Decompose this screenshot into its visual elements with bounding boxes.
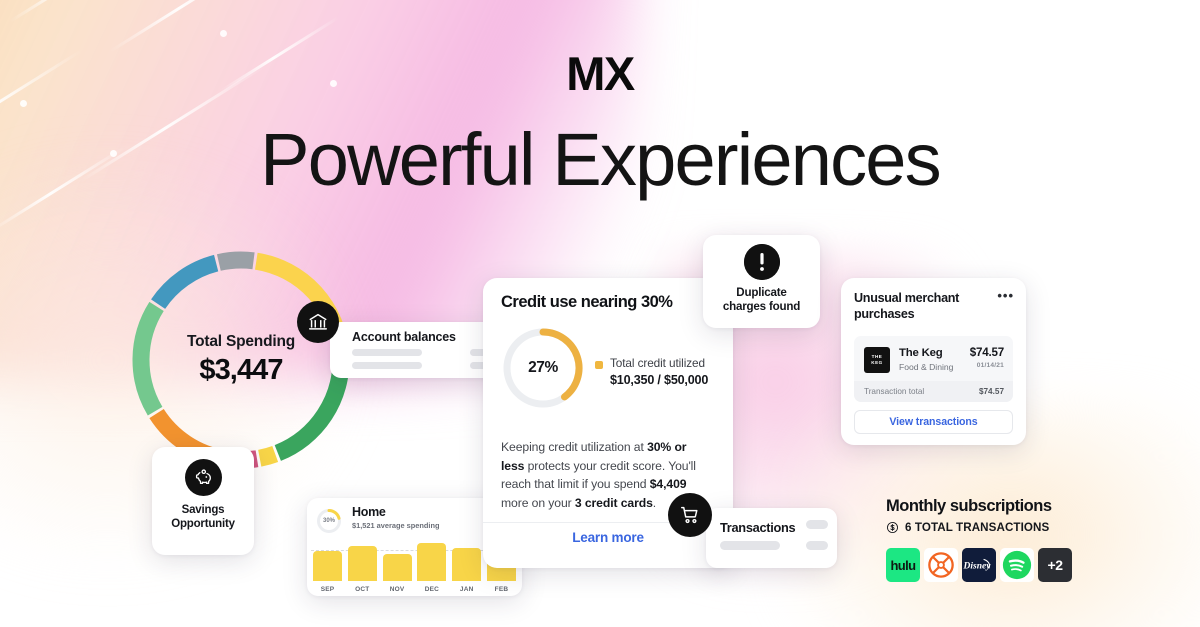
subscriptions-title: Monthly subscriptions	[886, 497, 1136, 516]
bank-icon	[297, 301, 339, 343]
transactions-card[interactable]: Transactions	[706, 508, 837, 568]
light-streak	[109, 0, 263, 53]
credit-body-text-run: .	[653, 496, 656, 510]
transaction-date: 01/14/21	[977, 362, 1004, 369]
credit-gauge-percent: 27%	[501, 326, 585, 410]
credit-body-emphasis: 3 credit cards	[575, 496, 653, 510]
home-card-title: Home	[352, 505, 386, 519]
bar-column	[313, 551, 342, 581]
credit-body-text-run: Keeping credit utilization at	[501, 440, 647, 454]
savings-opportunity-card[interactable]: Savings Opportunity	[152, 447, 254, 555]
credit-legend-label: Total credit utilized	[610, 356, 708, 370]
bar-label: NOV	[383, 586, 412, 593]
credit-use-title: Credit use nearing 30%	[501, 293, 672, 312]
bar	[348, 546, 377, 581]
transactions-title: Transactions	[720, 520, 795, 535]
disney-plus-icon[interactable]: Disney	[962, 548, 996, 582]
bar-column	[348, 546, 377, 581]
credit-legend: Total credit utilized $10,350 / $50,000	[595, 356, 708, 387]
donut-value: $3,447	[199, 354, 282, 387]
home-bar-labels: SEPOCTNOVDECJANFEB	[313, 586, 516, 593]
page-title: Powerful Experiences	[0, 117, 1200, 202]
more-subscriptions-icon[interactable]: +2	[1038, 548, 1072, 582]
duplicate-charges-card[interactable]: Duplicate charges found	[703, 235, 820, 328]
subscription-icons-row: hulu Disney	[886, 548, 1136, 582]
dollar-circle-icon	[886, 521, 899, 534]
page-stage: MX Powerful Experiences Total Spending $…	[0, 0, 1200, 627]
monthly-subscriptions-block: Monthly subscriptions 6 TOTAL TRANSACTIO…	[886, 497, 1136, 582]
merchant-category: Food & Dining	[899, 362, 953, 372]
piggy-bank-icon	[185, 459, 222, 496]
view-transactions-button[interactable]: View transactions	[854, 410, 1013, 434]
unusual-merchant-card[interactable]: Unusual merchant purchases ••• THE KEG T…	[841, 278, 1026, 445]
account-balances-title: Account balances	[352, 330, 456, 344]
bar	[313, 551, 342, 581]
bar-column	[383, 554, 412, 581]
crossfit-icon[interactable]	[924, 548, 958, 582]
credit-legend-value: $10,350 / $50,000	[610, 373, 708, 387]
subscriptions-meta: 6 TOTAL TRANSACTIONS	[886, 521, 1136, 534]
bar-label: JAN	[452, 586, 481, 593]
duplicate-charges-label: Duplicate charges found	[723, 286, 800, 315]
bar-label: SEP	[313, 586, 342, 593]
transaction-total-label: Transaction total	[864, 387, 924, 396]
light-dot	[220, 30, 227, 37]
home-progress-ring: 30%	[316, 508, 342, 534]
subscriptions-count: 6 TOTAL TRANSACTIONS	[905, 521, 1049, 534]
merchant-card-title: Unusual merchant purchases	[854, 290, 979, 323]
overflow-menu-icon[interactable]: •••	[997, 292, 1014, 300]
credit-utilization-gauge: 27%	[501, 326, 585, 410]
merchant-name: The Keg	[899, 347, 943, 359]
savings-line-2: Opportunity	[171, 518, 235, 530]
skeleton-bar	[806, 520, 828, 529]
bar	[452, 548, 481, 581]
mx-logo: MX	[0, 46, 1200, 101]
transaction-total-value: $74.57	[979, 387, 1004, 396]
bar-column	[452, 548, 481, 581]
total-spending-donut-chart: Total Spending $3,447	[123, 242, 359, 478]
savings-line-1: Savings	[182, 504, 225, 516]
merchant-logo-icon: THE KEG	[864, 347, 890, 373]
exclamation-icon	[744, 244, 780, 280]
shopping-cart-icon	[668, 493, 712, 537]
bar-label: DEC	[417, 586, 446, 593]
savings-opportunity-label: Savings Opportunity	[171, 503, 235, 531]
spotify-icon[interactable]	[1000, 548, 1034, 582]
credit-body-emphasis: $4,409	[650, 477, 687, 491]
light-streak	[9, 0, 138, 23]
credit-body-text-run: more on your	[501, 496, 575, 510]
transaction-amount: $74.57	[970, 346, 1004, 359]
duplicate-line-2: charges found	[723, 300, 800, 313]
duplicate-line-1: Duplicate	[736, 286, 786, 299]
light-dot	[20, 100, 27, 107]
legend-swatch-icon	[595, 361, 603, 369]
skeleton-bar	[352, 362, 422, 369]
bar	[417, 543, 446, 581]
bar-label: FEB	[487, 586, 516, 593]
skeleton-bar	[720, 541, 780, 550]
bar-label: OCT	[348, 586, 377, 593]
hulu-icon[interactable]: hulu	[886, 548, 920, 582]
skeleton-bar	[806, 541, 828, 550]
bar-column	[417, 543, 446, 581]
transaction-total-row: Transaction total $74.57	[854, 381, 1013, 402]
merchant-logo-line-2: KEG	[871, 360, 882, 366]
bar	[383, 554, 412, 581]
donut-center-text: Total Spending $3,447	[123, 242, 359, 478]
svg-text:Disney: Disney	[963, 562, 992, 572]
donut-label: Total Spending	[187, 333, 295, 351]
skeleton-bar	[352, 349, 422, 356]
home-card-subtitle: $1,521 average spending	[352, 521, 440, 530]
home-ring-percent: 30%	[316, 508, 342, 534]
